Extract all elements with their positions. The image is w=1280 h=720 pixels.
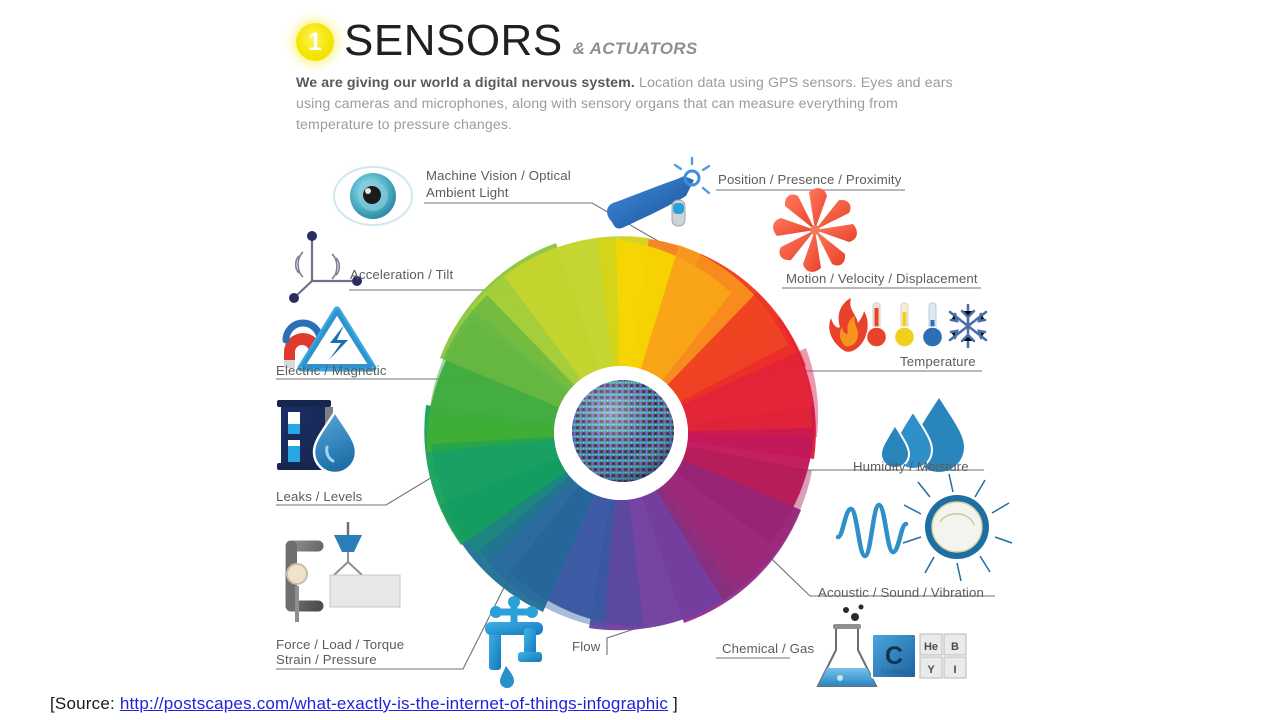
carbon-symbol-text: C bbox=[885, 642, 903, 670]
snowflake-icon bbox=[950, 305, 986, 347]
fan-blades-icon bbox=[773, 188, 857, 272]
sensor-wheel-diagram: C CARBON He B Y I bbox=[0, 0, 1280, 720]
periodic-element-tile-icon: C CARBON bbox=[872, 634, 916, 678]
label-acoustic-sound-vibration: Acoustic / Sound / Vibration bbox=[818, 585, 984, 601]
svg-text:I: I bbox=[953, 664, 956, 676]
chemical-flask-icon bbox=[818, 605, 876, 687]
infographic-canvas: 1 SENSORS & ACTUATORS We are giving our … bbox=[0, 0, 1280, 720]
source-prefix: [Source: bbox=[50, 694, 120, 713]
color-aperture-wheel bbox=[424, 236, 818, 630]
label-machine-vision-line2: Ambient Light bbox=[426, 185, 509, 201]
flame-icon bbox=[829, 298, 868, 352]
force-clamp-icon bbox=[286, 541, 318, 622]
periodic-element-tile-icon: He B Y I bbox=[920, 634, 966, 678]
source-suffix: ] bbox=[668, 694, 678, 713]
label-machine-vision-line1: Machine Vision / Optical bbox=[426, 168, 571, 184]
sound-wave-icon bbox=[838, 505, 906, 556]
label-leaks-levels: Leaks / Levels bbox=[276, 489, 362, 505]
label-flow: Flow bbox=[572, 639, 600, 655]
eye-icon bbox=[327, 160, 419, 232]
source-footer: [Source: http://postscapes.com/what-exac… bbox=[50, 694, 678, 714]
label-force-line1: Force / Load / Torque bbox=[276, 637, 404, 653]
label-electric-magnetic: Electric / Magnetic bbox=[276, 363, 387, 379]
label-chemical-gas: Chemical / Gas bbox=[722, 641, 814, 657]
svg-text:B: B bbox=[951, 641, 959, 653]
label-motion-velocity-displacement: Motion / Velocity / Displacement bbox=[786, 271, 978, 287]
label-position-presence-proximity: Position / Presence / Proximity bbox=[718, 172, 901, 188]
label-force-line2: Strain / Pressure bbox=[276, 652, 377, 668]
thermometer-icon bbox=[923, 303, 943, 347]
acoustic-burst-icon bbox=[903, 474, 1012, 581]
svg-text:Y: Y bbox=[927, 664, 935, 676]
load-hook-icon bbox=[330, 522, 400, 607]
label-temperature: Temperature bbox=[900, 354, 976, 370]
label-acceleration-tilt: Acceleration / Tilt bbox=[350, 267, 453, 283]
svg-text:He: He bbox=[924, 641, 938, 653]
label-humidity-moisture: Humidity / Moisture bbox=[853, 459, 969, 475]
carbon-name-text: CARBON bbox=[881, 670, 907, 676]
source-link[interactable]: http://postscapes.com/what-exactly-is-th… bbox=[120, 694, 668, 713]
thermometer-icon bbox=[867, 303, 887, 347]
faucet-flow-icon bbox=[485, 596, 543, 688]
pointing-hand-touch-icon bbox=[607, 158, 709, 229]
thermometer-icon bbox=[895, 303, 915, 347]
